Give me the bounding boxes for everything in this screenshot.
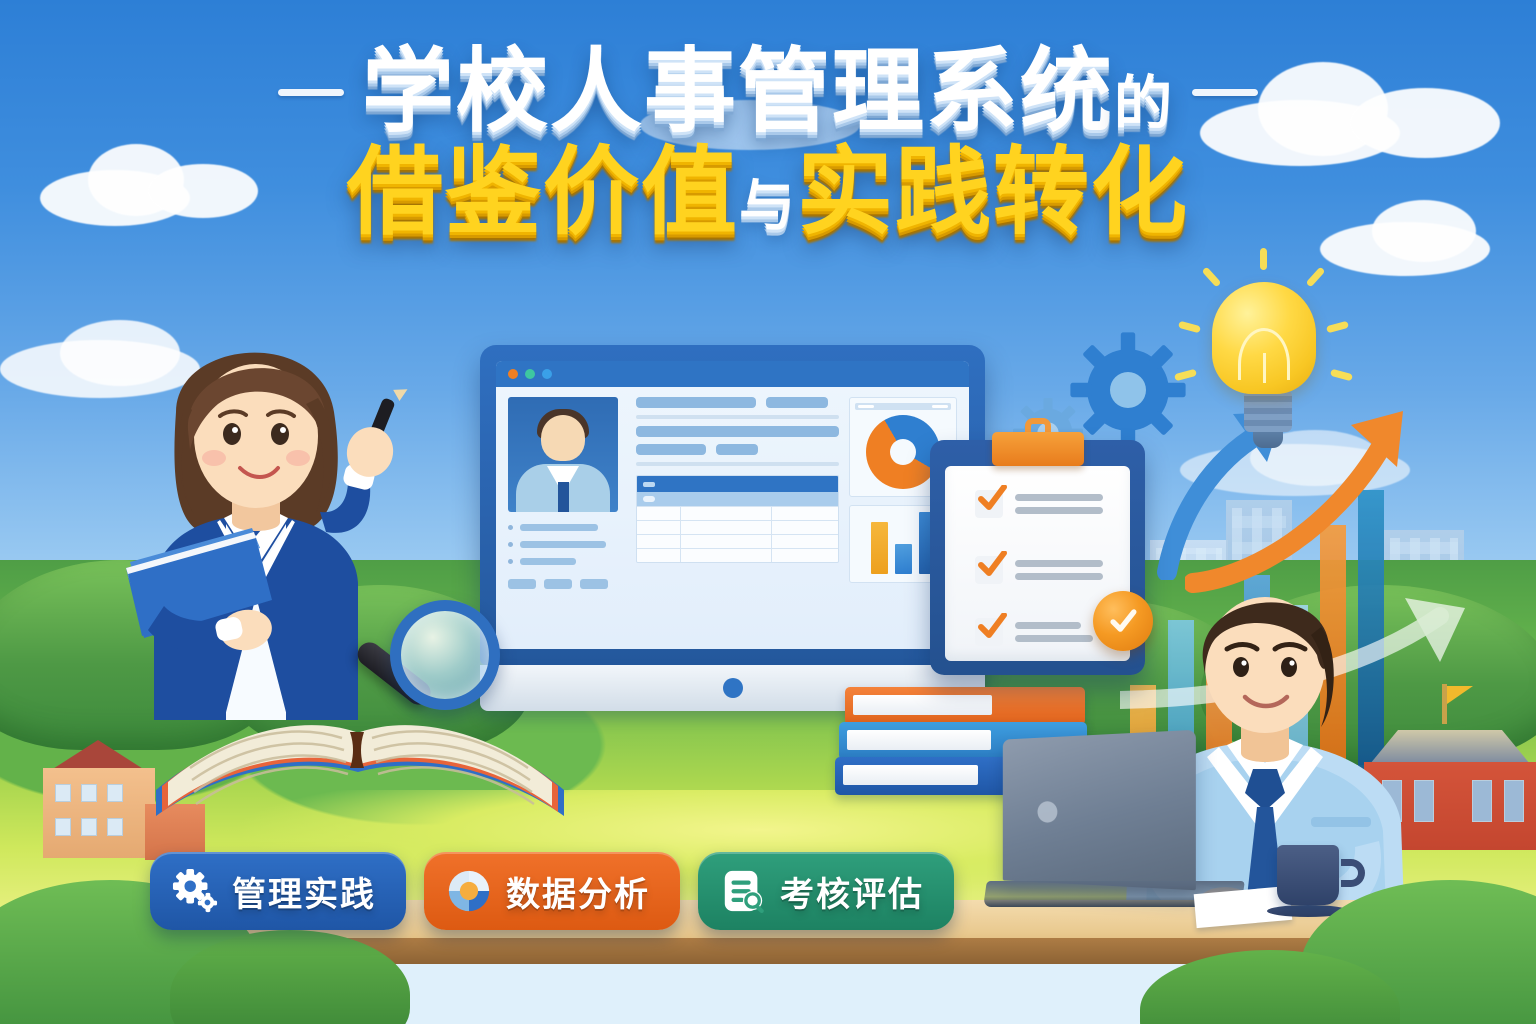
lightbulb-icon <box>1212 282 1324 448</box>
checklist-item <box>975 490 1103 518</box>
employee-photo <box>508 397 618 512</box>
table-row <box>637 548 838 562</box>
profile-attribute-list <box>508 524 626 565</box>
table-row <box>637 506 838 520</box>
cta-button-row: 管理实践 数据分析 <box>150 852 954 930</box>
gear-icon <box>172 868 218 914</box>
magnifier-icon <box>330 600 500 770</box>
title-sub-b: 实践转化 <box>797 139 1189 246</box>
cta-assessment[interactable]: 考核评估 <box>698 852 954 930</box>
laptop <box>985 735 1245 907</box>
window-dot-close[interactable] <box>508 369 518 379</box>
checkbox[interactable] <box>975 490 1003 518</box>
document-search-icon <box>720 868 766 914</box>
checklist-item <box>975 618 1093 646</box>
donut-chart <box>866 415 940 489</box>
gear-icon <box>1068 330 1188 450</box>
record-detail-panel <box>636 397 839 639</box>
banner-illustration: 学校人事管理系统的 借鉴价值与实践转化 <box>0 0 1536 1024</box>
title-dash-left <box>278 89 344 96</box>
title-line-1: 学校人事管理系统的 <box>0 46 1536 140</box>
title-dash-right <box>1192 89 1258 96</box>
window-dot-maximize[interactable] <box>542 369 552 379</box>
table-row <box>637 534 838 548</box>
checkbox[interactable] <box>975 618 1003 646</box>
checkbox[interactable] <box>975 556 1003 584</box>
monitor-power-led <box>723 678 743 698</box>
profile-panel <box>508 397 626 639</box>
title-line-2: 借鉴价值与实践转化 <box>0 144 1536 242</box>
check-icon <box>977 613 1007 641</box>
list-item <box>508 541 626 548</box>
table-subheader <box>637 492 838 506</box>
title-suffix-text: 的 <box>1114 71 1174 136</box>
browser-titlebar <box>496 361 969 387</box>
check-icon <box>977 551 1007 579</box>
tag-chips <box>508 579 626 589</box>
title-main-text: 学校人事管理系统 <box>362 41 1114 143</box>
donut-chart-icon <box>446 868 492 914</box>
table-row <box>637 520 838 534</box>
title-sub-amp: 与 <box>739 174 797 237</box>
monitor-screen <box>496 361 969 649</box>
coffee-mug <box>1277 845 1351 917</box>
table-header <box>637 476 838 492</box>
personnel-table <box>636 475 839 563</box>
cta-label: 考核评估 <box>780 867 924 916</box>
page-title: 学校人事管理系统的 借鉴价值与实践转化 <box>0 46 1536 242</box>
checklist-item <box>975 556 1103 584</box>
list-item <box>508 558 626 565</box>
cta-management-practice[interactable]: 管理实践 <box>150 852 406 930</box>
cta-label: 数据分析 <box>506 867 650 916</box>
cta-label: 管理实践 <box>232 867 376 916</box>
cta-data-analysis[interactable]: 数据分析 <box>424 852 680 930</box>
window-dot-minimize[interactable] <box>525 369 535 379</box>
list-item <box>508 524 626 531</box>
laptop-logo <box>1038 801 1058 822</box>
title-sub-a: 借鉴价值 <box>347 139 739 246</box>
clipboard-clip <box>992 432 1084 466</box>
checklist-clipboard <box>930 440 1145 675</box>
check-icon <box>977 485 1007 513</box>
